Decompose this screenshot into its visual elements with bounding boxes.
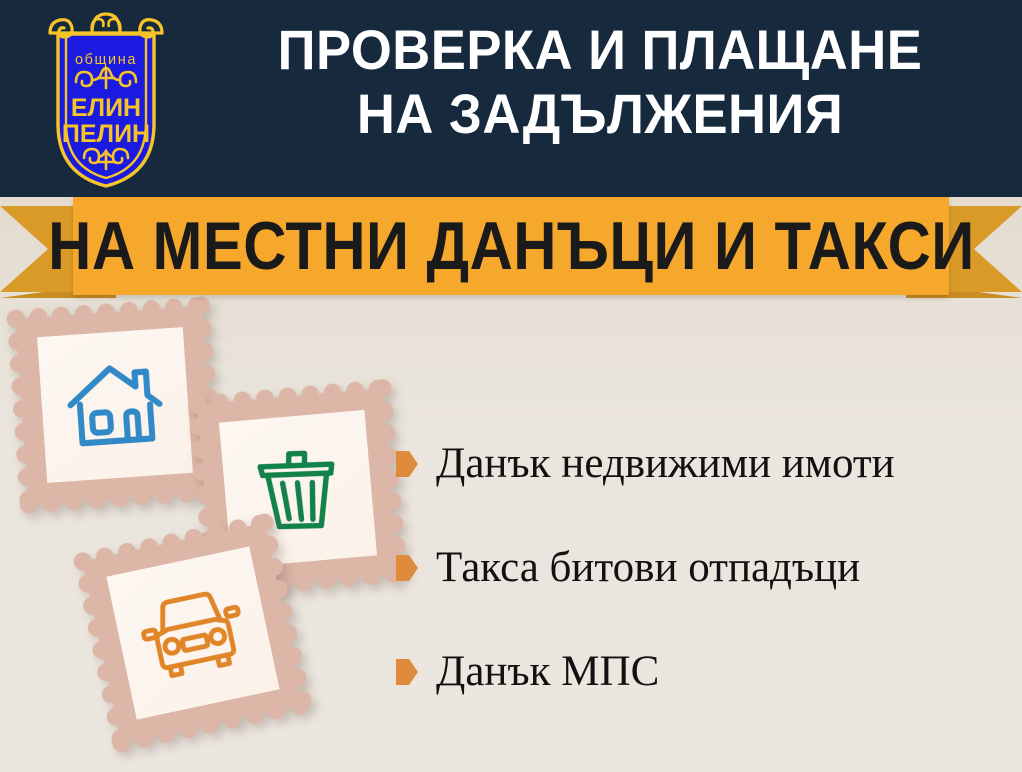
subtitle-ribbon: НА МЕСТНИ ДАНЪЦИ И ТАКСИ [0,190,1022,308]
page-title: ПРОВЕРКА И ПЛАЩАНЕ НА ЗАДЪЛЖЕНИЯ [190,18,1010,146]
elin-pelin-coat-of-arms-icon: община ЕЛИН ПЕЛИН [26,6,186,191]
car-icon [132,575,254,691]
header-bar: община ЕЛИН ПЕЛИН [0,0,1022,197]
pentagon-arrow-bullet-icon [396,659,418,685]
list-item-label: Данък недвижими имоти [436,440,895,488]
list-item[interactable]: Такса битови отпадъци [396,516,1016,620]
list-item[interactable]: Данък МПС [396,620,1016,724]
municipality-emblem: община ЕЛИН ПЕЛИН [26,6,186,191]
stamp-card-property [16,306,215,505]
emblem-name-line-2: ПЕЛИН [62,120,150,148]
stamp-paper [106,546,279,719]
stamp-paper [37,327,193,483]
list-item-label: Такса битови отпадъци [436,544,860,592]
list-item-label: Данък МПС [436,648,659,696]
ribbon-label: НА МЕСТНИ ДАНЪЦИ И ТАКСИ [48,212,975,280]
pentagon-arrow-bullet-icon [396,451,418,477]
page-title-line-2: НА ЗАДЪЛЖЕНИЯ [215,82,986,146]
tax-type-list: Данък недвижими имоти Такса битови отпад… [396,412,1016,724]
pentagon-arrow-bullet-icon [396,555,418,581]
emblem-name-line-1: ЕЛИН [71,94,141,122]
stamp-card-vehicle [83,523,304,744]
stamp-collage [0,296,420,772]
ribbon-band: НА МЕСТНИ ДАНЪЦИ И ТАКСИ [73,197,949,295]
list-item[interactable]: Данък недвижими имоти [396,412,1016,516]
house-icon [59,349,170,460]
emblem-top-text: община [75,52,137,68]
poster-canvas: община ЕЛИН ПЕЛИН [0,0,1022,772]
page-title-line-1: ПРОВЕРКА И ПЛАЩАНЕ [215,18,986,82]
